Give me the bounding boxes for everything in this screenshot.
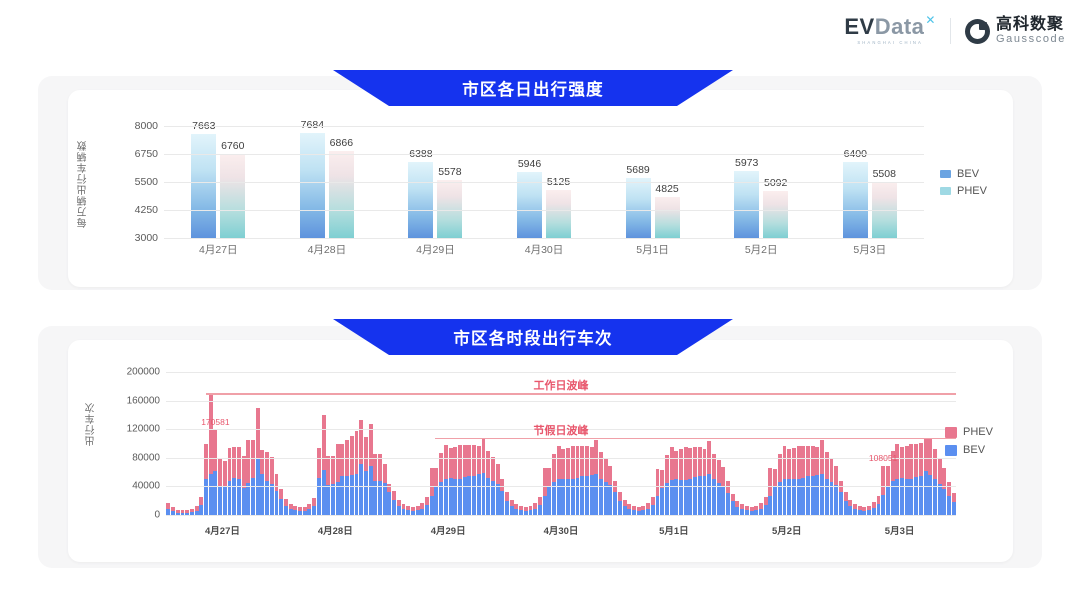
chart1-y-tick: 3000 [135,232,158,244]
chart2-segment-bev [223,486,227,515]
section1-banner-title: 市区各日出行强度 [333,70,733,106]
chart2-segment-phev [693,447,697,477]
chart2-gridline [166,515,956,516]
chart1-bar-value: 5973 [735,157,758,169]
chart1-bar-value: 5578 [438,166,461,178]
evdata-ev-text: EV [844,16,874,38]
chart2-segment-bev [251,478,255,515]
chart2-segment-phev [924,438,928,471]
chart2-segment-phev [820,440,824,474]
chart2-segment-bev [571,479,575,515]
legend-swatch-icon [945,445,957,456]
chart1-bar-phev: 6760 [220,154,245,238]
chart2-stacked-column [190,372,194,515]
chart1-legend-item[interactable]: PHEV [940,185,987,197]
chart2-segment-phev [660,470,664,488]
chart2-segment-phev [246,440,250,483]
chart2-segment-bev [430,496,434,515]
chart2-segment-bev [199,505,203,515]
chart2-segment-bev [467,476,471,515]
chart2-segment-bev [721,486,725,515]
chart2-segment-phev [877,496,881,505]
chart2-segment-bev [237,479,241,515]
chart2-segment-phev [491,457,495,481]
chart1-plot-area: 7663676076846866638855785946512556894825… [164,126,924,238]
chart2-segment-phev [585,446,589,476]
chart2-segment-phev [566,448,570,479]
chart2-segment-phev [938,458,942,484]
chart2-segment-bev [350,475,354,515]
chart2-segment-bev [820,474,824,515]
chart2-segment-phev [665,455,669,483]
chart2-segment-phev [557,446,561,480]
chart2-segment-phev [425,497,429,505]
chart2-y-tick: 0 [154,510,160,521]
chart2-segment-phev [618,492,622,501]
chart1-x-tick: 5月2日 [707,242,816,257]
chart2-segment-bev [717,483,721,515]
chart2-segment-phev [703,449,707,476]
chart2-segment-phev [383,464,387,483]
chart2-segment-bev [834,485,838,515]
chart2-segment-bev [322,470,326,515]
chart2-segment-bev [698,476,702,515]
chart2-segment-phev [232,447,236,478]
chart2-segment-bev [505,501,509,515]
chart1-gridline [164,238,924,239]
chart2-segment-bev [877,504,881,515]
chart1-gridline [164,210,924,211]
chart2-segment-phev [561,449,565,478]
chart2-segment-phev [834,466,838,485]
chart2-segment-bev [453,479,457,515]
chart2-segment-phev [355,431,359,474]
chart2-segment-bev [369,466,373,515]
chart2-segment-phev [947,482,951,496]
chart2-segment-phev [242,456,246,487]
chart2-segment-bev [933,479,937,515]
chart2-annotation-label: 节假日波峰 [534,422,589,438]
chart2-segment-phev [482,439,486,473]
chart2-segment-phev [364,437,368,471]
chart2-segment-phev [463,445,467,477]
chart2-segment-phev [500,479,504,491]
chart2-segment-bev [848,506,852,515]
chart2-segment-phev [768,468,772,496]
chart2-segment-phev [218,458,222,487]
chart2-peak-value-label: 170581 [201,417,229,427]
chart2-segment-phev [486,451,490,478]
chart1-bar-value: 6760 [221,140,244,152]
chart2-segment-bev [735,507,739,515]
chart2-segment-bev [787,479,791,515]
chart2-segment-phev [731,494,735,502]
chart2-gridline [166,486,956,487]
chart2-segment-phev [815,447,819,475]
chart1-bar-value: 5508 [873,168,896,180]
gausscode-wordmark: 高科数聚 Gausscode [996,17,1066,45]
chart1-y-tick: 6750 [135,148,158,160]
chart2-x-tick: 5月3日 [843,523,956,537]
chart2-segment-bev [768,496,772,515]
chart2-segment-bev [773,487,777,515]
chart2-segment-bev [580,476,584,515]
chart1-bar-value: 5689 [626,164,649,176]
chart2-segment-phev [505,492,509,501]
chart1-x-tick: 5月3日 [815,242,924,257]
logo-divider [950,18,951,44]
chart2-segment-bev [566,479,570,515]
chart2-segment-phev [905,446,909,479]
chart1-bar-value: 4825 [655,183,678,195]
chart2-segment-phev [340,444,344,477]
chart2-segment-phev [919,443,923,476]
chart2-segment-bev [872,508,876,515]
chart2-segment-phev [322,415,326,470]
chart2-segment-phev [326,456,330,485]
chart2-segment-phev [797,446,801,480]
chart1-legend: BEVPHEV [940,168,987,197]
chart2-segment-phev [830,459,834,483]
chart2-segment-bev [665,483,669,515]
chart1-bar-value: 5946 [518,158,541,170]
chart2-segment-phev [580,446,584,477]
chart2-segment-bev [679,480,683,515]
chart1-bar-bev: 7684 [300,133,325,238]
chart2-legend-item[interactable]: PHEV [945,426,993,438]
chart2-gridline [166,372,956,373]
chart2-segment-bev [561,479,565,515]
chart2-y-axis-label: 出行车次 [84,402,99,446]
chart2-segment-bev [270,484,274,515]
chart2-segment-phev [256,408,260,457]
chart2-annotation-line [206,393,957,395]
chart2-segment-bev [213,471,217,515]
chart2-segment-bev [684,480,688,515]
chart2-stacked-column [181,372,185,515]
chart2-y-tick: 200000 [127,367,160,378]
evdata-x-icon: ✕ [925,14,936,26]
chart1-bar-phev: 6866 [329,151,354,238]
section2-banner-title: 市区各时段出行车次 [333,319,733,355]
chart2-segment-bev [900,478,904,515]
chart2-segment-bev [942,489,946,515]
chart2-segment-bev [599,479,603,515]
chart2-segment-bev [688,479,692,515]
chart2-segment-bev [364,471,368,515]
chart2-segment-bev [924,471,928,515]
chart2-stacked-column [195,372,199,515]
evdata-logo: EV Data ✕ SHANGHAI CHINA [844,16,936,45]
chart2-segment-phev [275,474,279,492]
chart2-x-tick: 5月2日 [730,523,843,537]
chart2-y-tick: 80000 [132,452,160,463]
chart2-segment-phev [284,499,288,506]
chart2-segment-phev [688,448,692,479]
chart2-segment-phev [914,444,918,477]
chart2-segment-phev [312,498,316,506]
evdata-wordmark: EV Data ✕ [844,16,936,38]
chart2-segment-bev [392,500,396,515]
chart1-y-axis-label: 每万辆出行车辆数 [76,140,91,228]
chart2-segment-bev [674,479,678,515]
chart2-segment-bev [811,476,815,515]
chart2-segment-bev [458,479,462,515]
chart2-segment-phev [656,469,660,496]
daily-travel-intensity-chart: 每万辆出行车辆数 7663676076846866638855785946512… [68,90,1013,287]
chart2-segment-phev [825,452,829,478]
chart2-segment-bev [284,506,288,515]
legend-swatch-icon [945,427,957,438]
chart2-segment-bev [585,476,589,515]
chart2-segment-bev [279,499,283,515]
chart2-annotation-line [435,438,956,440]
gausscode-logo: 高科数聚 Gausscode [965,17,1066,45]
chart1-bar-phev: 5125 [546,190,571,238]
chart1-x-tick: 4月28日 [273,242,382,257]
chart2-segment-bev [444,479,448,515]
chart2-segment-phev [213,430,217,471]
chart2-segment-bev [919,476,923,515]
chart2-gridline [166,401,956,402]
chart2-segment-bev [331,484,335,515]
chart2-segment-bev [703,476,707,515]
chart2-segment-bev [242,488,246,515]
chart2-segment-phev [590,447,594,475]
chart2-segment-bev [477,474,481,515]
chart2-x-tick: 4月27日 [166,523,279,537]
chart2-segment-phev [599,452,603,478]
chart1-y-tick: 4250 [135,204,158,216]
chart2-segment-phev [496,464,500,484]
chart2-segment-bev [693,477,697,515]
chart2-segment-bev [576,478,580,515]
chart2-segment-phev [933,449,937,479]
chart2-segment-phev [764,497,768,505]
chart2-x-tick: 5月1日 [617,523,730,537]
chart2-segment-phev [801,446,805,477]
chart2-segment-bev [594,474,598,515]
chart2-stacked-column [185,372,189,515]
chart2-segment-bev [839,492,843,515]
chart2-segment-phev [251,440,255,478]
chart2-segment-bev [486,478,490,515]
chart2-segment-bev [914,477,918,515]
chart2-segment-phev [453,447,457,479]
chart2-gridline [166,458,956,459]
chart2-segment-phev [594,440,598,474]
chart2-segment-bev [938,484,942,515]
chart2-segment-bev [712,479,716,515]
chart1-x-axis-labels: 4月27日4月28日4月29日4月30日5月1日5月2日5月3日 [164,242,924,257]
chart2-segment-phev [467,445,471,476]
chart2-segment-bev [608,485,612,515]
chart2-segment-bev [232,478,236,515]
chart2-segment-bev [928,475,932,515]
chart2-segment-phev [317,448,321,478]
chart2-segment-bev [204,479,208,515]
chart2-segment-bev [246,483,250,515]
chart2-segment-phev [651,497,655,505]
chart2-segment-bev [383,483,387,515]
chart2-segment-phev [670,447,674,480]
chart2-segment-bev [905,479,909,515]
chart2-segment-phev [679,449,683,480]
chart2-segment-phev [928,438,932,475]
chart2-segment-bev [844,501,848,515]
chart2-stacked-column [176,372,180,515]
chart2-segment-bev [801,478,805,515]
chart2-segment-phev [199,497,203,505]
chart2-segment-phev [900,447,904,478]
chart2-segment-phev [336,444,340,483]
chart2-segment-bev [623,506,627,515]
chart2-segment-bev [731,501,735,515]
chart2-segment-bev [806,476,810,515]
chart2-segment-bev [340,476,344,515]
chart2-segment-bev [260,474,264,515]
chart1-legend-label: BEV [957,168,979,180]
chart2-x-tick: 4月30日 [505,523,618,537]
chart2-segment-bev [909,479,913,515]
gausscode-cn-text: 高科数聚 [996,17,1066,34]
legend-swatch-icon [940,187,951,195]
chart2-segment-phev [543,468,547,496]
chart2-segment-phev [458,445,462,479]
chart2-segment-phev [228,448,232,482]
chart1-bar-phev: 5092 [763,191,788,238]
chart2-segment-phev [430,468,434,497]
chart2-segment-bev [312,506,316,515]
chart2-legend-label: BEV [963,444,985,456]
chart2-segment-phev [576,446,580,477]
chart2-segment-bev [707,474,711,515]
chart1-y-tick: 8000 [135,120,158,132]
chart2-segment-bev [825,479,829,515]
chart2-segment-phev [604,459,608,483]
chart2-segment-phev [787,449,791,478]
chart2-segment-phev [260,450,264,474]
chart2-segment-bev [317,478,321,515]
chart2-legend-label: PHEV [963,426,993,438]
chart2-segment-phev [909,444,913,479]
chart2-segment-bev [783,479,787,515]
chart2-plot-area: 04000080000120000160000200000工作日波峰节假日波峰1… [166,372,956,515]
chart2-segment-phev [792,448,796,479]
chart2-segment-bev [764,505,768,515]
chart2-segment-phev [237,447,241,479]
chart2-segment-phev [806,446,810,477]
chart2-segment-bev [449,478,453,515]
chart2-segment-bev [590,475,594,515]
chart1-gridline [164,182,924,183]
chart2-segment-bev [670,480,674,515]
chart2-segment-bev [510,506,514,515]
chart2-segment-phev [331,456,335,484]
chart1-bar-value: 5092 [764,177,787,189]
chart2-segment-bev [345,476,349,515]
chart2-segment-bev [651,505,655,515]
chart1-x-tick: 4月30日 [490,242,599,257]
chart2-segment-bev [947,496,951,515]
chart2-segment-bev [209,474,213,515]
chart2-segment-bev [359,464,363,515]
chart2-segment-bev [618,501,622,515]
chart2-segment-bev [543,496,547,515]
chart2-segment-phev [434,468,438,487]
chart2-segment-phev [279,489,283,499]
chart2-segment-bev [952,502,956,515]
chart1-bar-bev: 7663 [191,134,216,238]
chart1-x-tick: 4月27日 [164,242,273,257]
chart2-stacked-column [171,372,175,515]
gausscode-g-icon [965,19,990,44]
chart1-gridline [164,126,924,127]
chart2-segment-phev [783,446,787,480]
page-header: EV Data ✕ SHANGHAI CHINA 高科数聚 Gausscode [0,0,1080,62]
chart2-segment-phev [538,497,542,505]
chart2-segment-phev [477,446,481,475]
hourly-trip-count-chart: 出行车次 04000080000120000160000200000工作日波峰节… [68,340,1013,562]
chart2-segment-bev [387,492,391,515]
chart1-y-tick: 5500 [135,176,158,188]
chart2-segment-phev [571,446,575,480]
chart2-segment-phev [270,457,274,483]
gausscode-en-text: Gausscode [996,34,1066,46]
chart2-segment-bev [792,479,796,515]
chart1-legend-label: PHEV [957,185,987,197]
chart2-segment-bev [656,496,660,515]
chart2-segment-bev [355,474,359,515]
chart1-gridline [164,154,924,155]
chart2-segment-bev [726,493,730,515]
chart1-bar-bev: 6400 [843,162,868,238]
chart2-segment-bev [434,487,438,515]
chart1-bar-bev: 5689 [626,178,651,238]
chart2-segment-bev [500,491,504,515]
chart1-bar-phev: 4825 [655,197,680,238]
chart2-x-tick: 4月28日 [279,523,392,537]
chart2-legend: PHEVBEV [945,426,993,456]
chart2-segment-bev [482,473,486,515]
chart2-segment-phev [350,436,354,475]
chart1-bar-value: 6866 [330,137,353,149]
chart1-x-tick: 5月1日 [598,242,707,257]
chart2-x-tick: 4月29日 [392,523,505,537]
chart2-segment-phev [886,466,890,486]
chart2-segment-phev [684,447,688,480]
chart2-segment-bev [613,492,617,515]
chart2-stacked-column [166,372,170,515]
chart2-segment-phev [811,446,815,476]
chart1-legend-item[interactable]: BEV [940,168,987,180]
chart2-segment-bev [472,476,476,515]
chart2-segment-bev [218,486,222,515]
chart2-segment-phev [472,445,476,476]
chart2-segment-bev [538,505,542,515]
chart2-segment-phev [209,393,213,474]
chart2-y-tick: 40000 [132,481,160,492]
chart2-segment-phev [265,452,269,481]
chart2-segment-bev [425,505,429,515]
chart2-peak-value-label: 108051 [869,453,897,463]
chart2-segment-bev [326,485,330,515]
chart2-legend-item[interactable]: BEV [945,444,993,456]
chart2-segment-bev [797,479,801,515]
chart2-y-tick: 160000 [127,395,160,406]
chart2-segment-phev [844,492,848,501]
chart2-segment-phev [721,467,725,486]
